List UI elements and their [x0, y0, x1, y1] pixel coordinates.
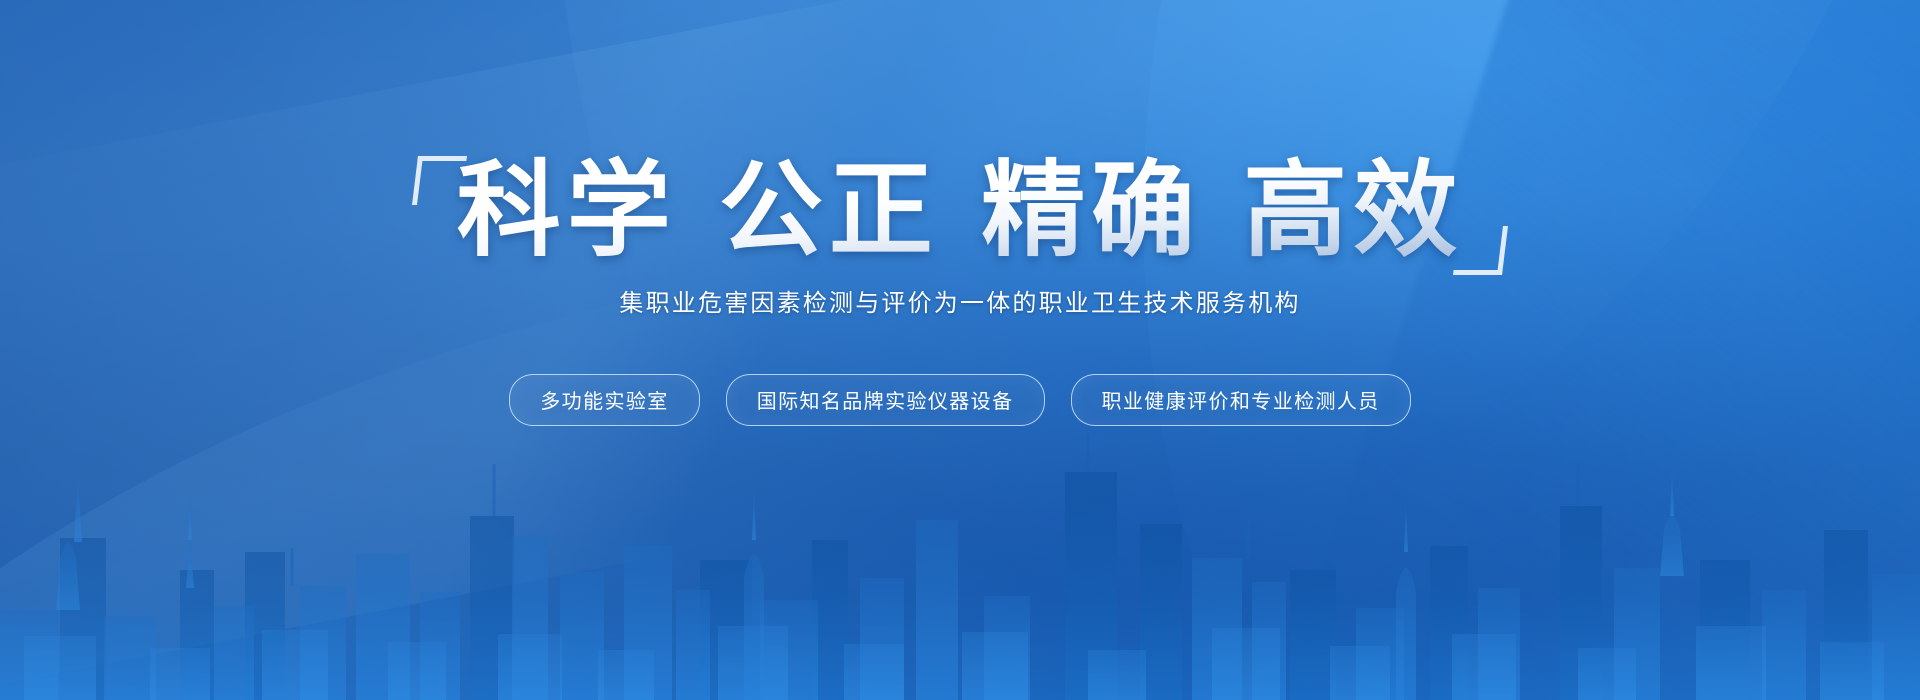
headline-block: 科学 公正 精确 高效 [411, 150, 1510, 271]
feature-pill-list: 多功能实验室 国际知名品牌实验仪器设备 职业健康评价和专业检测人员 [0, 374, 1920, 426]
headline-wrapper: 科学 公正 精确 高效 [0, 150, 1920, 271]
banner-content: 科学 公正 精确 高效 集职业危害因素检测与评价为一体的职业卫生技术服务机构 多… [0, 0, 1920, 700]
feature-pill-lab[interactable]: 多功能实验室 [509, 374, 699, 426]
banner-subtitle: 集职业危害因素检测与评价为一体的职业卫生技术服务机构 [0, 283, 1920, 318]
feature-pill-staff[interactable]: 职业健康评价和专业检测人员 [1071, 374, 1411, 426]
page-title: 科学 公正 精确 高效 [457, 150, 1464, 271]
hero-banner: 科学 公正 精确 高效 集职业危害因素检测与评价为一体的职业卫生技术服务机构 多… [0, 0, 1920, 700]
feature-pill-equipment[interactable]: 国际知名品牌实验仪器设备 [726, 374, 1045, 426]
